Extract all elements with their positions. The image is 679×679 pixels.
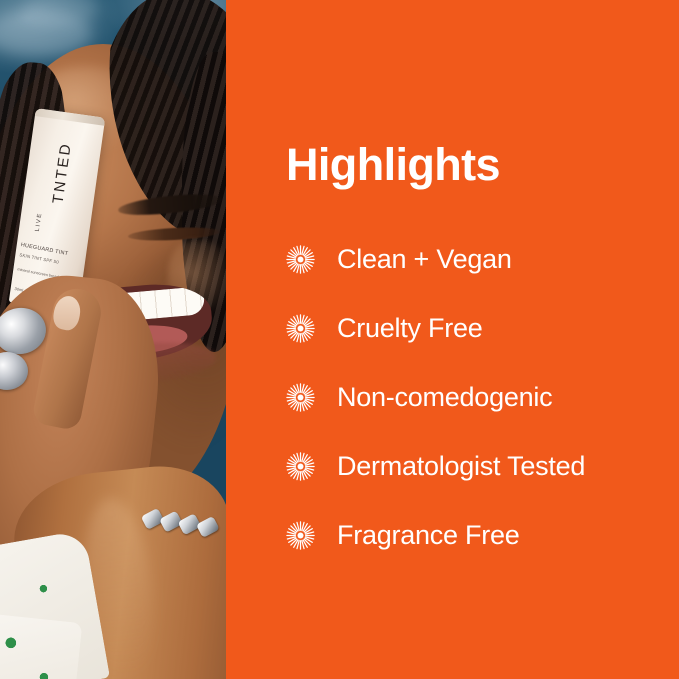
patterned-shirt-lower: [0, 613, 82, 679]
list-item: Cruelty Free: [286, 294, 666, 363]
list-item: Clean + Vegan: [286, 225, 666, 294]
sunburst-icon: [286, 521, 315, 550]
list-item-label: Dermatologist Tested: [337, 453, 585, 480]
highlights-panel: Highlights Clean + Vegan Cruelty Free No…: [226, 0, 679, 679]
list-item: Dermatologist Tested: [286, 432, 666, 501]
sunburst-icon-svg: [286, 245, 315, 274]
list-item-label: Fragrance Free: [337, 522, 520, 549]
sunburst-icon-svg: [286, 521, 315, 550]
highlights-promo-card: TNTED LIVE HUEGUARD TINT SKIN TINT SPF 5…: [0, 0, 679, 679]
sunburst-icon-svg: [286, 314, 315, 343]
list-item-label: Non-comedogenic: [337, 384, 552, 411]
product-photo: TNTED LIVE HUEGUARD TINT SKIN TINT SPF 5…: [0, 0, 226, 679]
sunburst-icon: [286, 383, 315, 412]
list-item-label: Cruelty Free: [337, 315, 483, 342]
sunburst-icon-svg: [286, 383, 315, 412]
tube-brand-line: LIVE: [35, 212, 44, 232]
list-item: Non-comedogenic: [286, 363, 666, 432]
sunburst-icon: [286, 452, 315, 481]
tube-brand-label: TNTED: [49, 141, 74, 205]
sunburst-icon: [286, 314, 315, 343]
sunburst-icon-svg: [286, 452, 315, 481]
highlights-list: Clean + Vegan Cruelty Free Non-comedogen…: [286, 225, 666, 570]
list-item-label: Clean + Vegan: [337, 246, 512, 273]
page-title: Highlights: [286, 142, 500, 187]
list-item: Fragrance Free: [286, 501, 666, 570]
sunburst-icon: [286, 245, 315, 274]
